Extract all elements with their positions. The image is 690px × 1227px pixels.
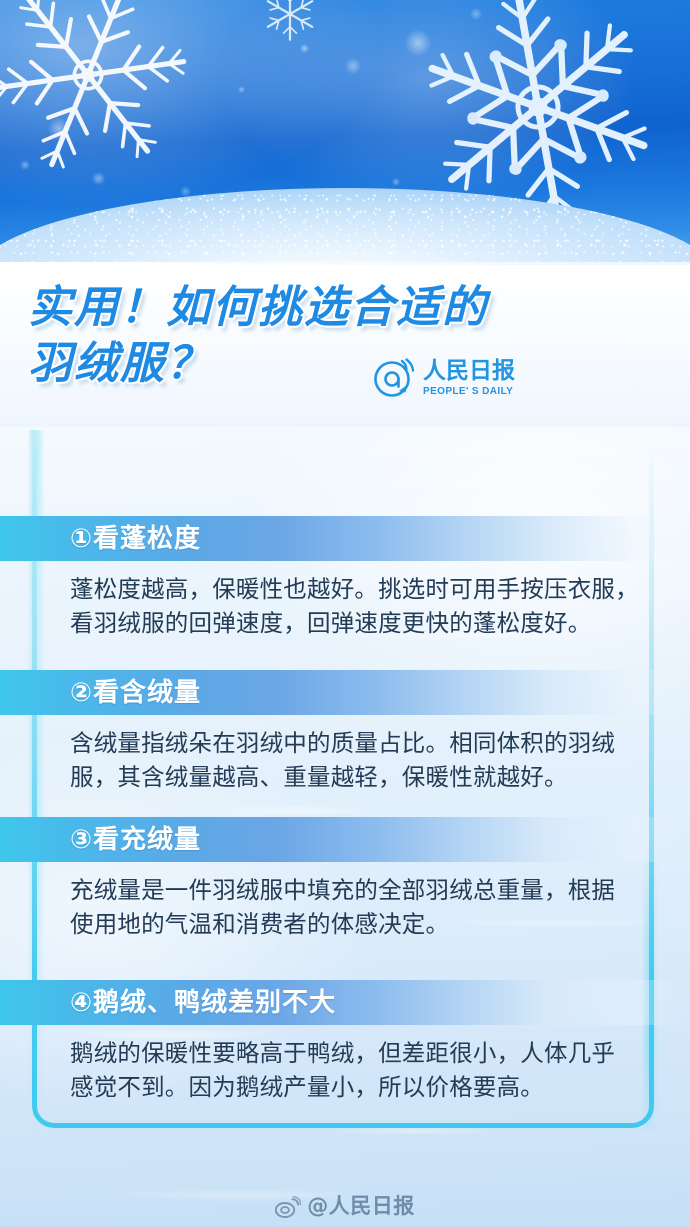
peoples-daily-logo: 人民日报 PEOPLE' S DAILY: [372, 357, 522, 409]
large-snowflake-left-icon: [0, 0, 218, 180]
tip-body-3: 充绒量是一件羽绒服中填充的全部羽绒总重量，根据 使用地的气温和消费者的体感决定。: [70, 873, 648, 941]
footer-handle: @人民日报: [307, 1196, 415, 1217]
bokeh-dot: [238, 86, 245, 93]
small-snowflake-top-icon: [258, 0, 322, 46]
brand-text-block: 人民日报 PEOPLE' S DAILY: [423, 357, 515, 397]
hero-snow-image: [0, 0, 690, 262]
bokeh-dot: [345, 58, 361, 74]
at-sign-icon: [372, 357, 418, 405]
tip-heading-2: ②看含绒量: [70, 680, 201, 706]
tip-body-2: 含绒量指绒朵在羽绒中的质量占比。相同体积的羽绒 服，其含绒量越高、重量越轻，保暖…: [70, 726, 648, 794]
poster-page: 实用！如何挑选合适的 羽绒服？ 人民日报 PEOPLE' S DAILY: [0, 0, 690, 1227]
tip-heading-bar-2: ②看含绒量: [0, 670, 690, 715]
tip-heading-1: ①看蓬松度: [70, 526, 201, 552]
brand-name-en: PEOPLE' S DAILY: [423, 387, 513, 397]
tip-heading-bar-3: ③看充绒量: [0, 817, 690, 862]
weibo-logo-icon: [275, 1196, 301, 1218]
tip-section-2: ②看含绒量 含绒量指绒朵在羽绒中的质量占比。相同体积的羽绒 服，其含绒量越高、重…: [0, 670, 690, 794]
tip-heading-3: ③看充绒量: [70, 827, 201, 853]
tip-body-4: 鹅绒的保暖性要略高于鸭绒，但差距很小，人体几乎 感觉不到。因为鹅绒产量小，所以价…: [70, 1036, 648, 1104]
title-band: 实用！如何挑选合适的 羽绒服？: [0, 262, 690, 427]
tip-heading-bar-4: ④鹅绒、鸭绒差别不大: [0, 980, 690, 1025]
footer-watermark: @人民日报: [0, 1186, 690, 1227]
tip-body-1: 蓬松度越高，保暖性也越好。挑选时可用手按压衣服， 看羽绒服的回弹速度，回弹速度更…: [70, 572, 648, 640]
tip-heading-4: ④鹅绒、鸭绒差别不大: [70, 990, 336, 1016]
page-title: 实用！如何挑选合适的 羽绒服？: [28, 280, 628, 393]
tip-heading-bar-1: ①看蓬松度: [0, 516, 690, 561]
brand-name-cn: 人民日报: [423, 360, 515, 383]
tip-section-4: ④鹅绒、鸭绒差别不大 鹅绒的保暖性要略高于鸭绒，但差距很小，人体几乎 感觉不到。…: [0, 980, 690, 1104]
tip-section-3: ③看充绒量 充绒量是一件羽绒服中填充的全部羽绒总重量，根据 使用地的气温和消费者…: [0, 817, 690, 941]
tip-section-1: ①看蓬松度 蓬松度越高，保暖性也越好。挑选时可用手按压衣服， 看羽绒服的回弹速度…: [0, 516, 690, 640]
